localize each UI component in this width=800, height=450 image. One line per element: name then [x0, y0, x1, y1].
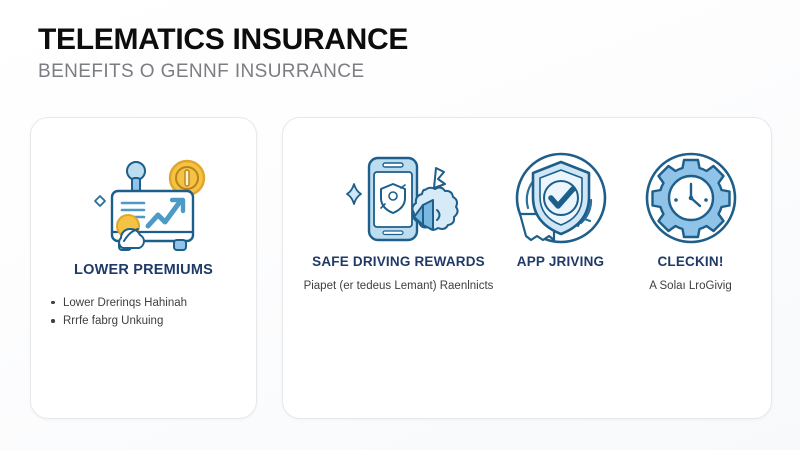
smartphone-shield-alert-icon — [301, 146, 496, 254]
card-lower-premiums[interactable]: LOWER PREMIUMS Lower Drerinqs Hahinah Rr… — [30, 117, 257, 419]
benefit-heading-1: SAFE DRIVING REWARDS — [301, 254, 496, 270]
benefit-body-3: A Solaı LroGivig — [623, 278, 758, 295]
shield-check-document-icon — [493, 146, 628, 254]
benefit-heading-3: CLECKIN! — [623, 254, 758, 270]
benefit-body-1: Piapet (er tedeus Lemant) Raenlnicts — [301, 278, 496, 295]
card-left-heading: LOWER PREMIUMS — [31, 262, 256, 280]
gear-clock-icon — [623, 146, 758, 254]
list-item: Lower Drerinqs Hahinah — [49, 294, 256, 313]
card-benefits-group[interactable]: SAFE DRIVING REWARDS Piapet (er tedeus L… — [282, 117, 772, 419]
page-subtitle: BENEFITS O GENNF INSURRANCE — [38, 62, 758, 83]
slide-canvas: TELEMATICS INSURANCE BENEFITS O GENNF IN… — [0, 0, 800, 450]
list-item: Rrrfe fabrg Unkuing — [49, 312, 256, 331]
benefit-column-safe-driving-rewards[interactable]: SAFE DRIVING REWARDS Piapet (er tedeus L… — [301, 146, 496, 296]
benefit-column-app-driving[interactable]: APP JRIVING — [493, 146, 628, 278]
card-left-bullet-list: Lower Drerinqs Hahinah Rrrfe fabrg Unkui… — [49, 294, 256, 331]
benefit-column-cleckin[interactable]: CLECKIN! A Solaı LroGivig — [623, 146, 758, 296]
growth-chart-monitor-icon — [31, 146, 256, 254]
slide-header: TELEMATICS INSURANCE BENEFITS O GENNF IN… — [38, 24, 758, 82]
benefit-heading-2: APP JRIVING — [493, 254, 628, 270]
page-title: TELEMATICS INSURANCE — [38, 24, 758, 56]
